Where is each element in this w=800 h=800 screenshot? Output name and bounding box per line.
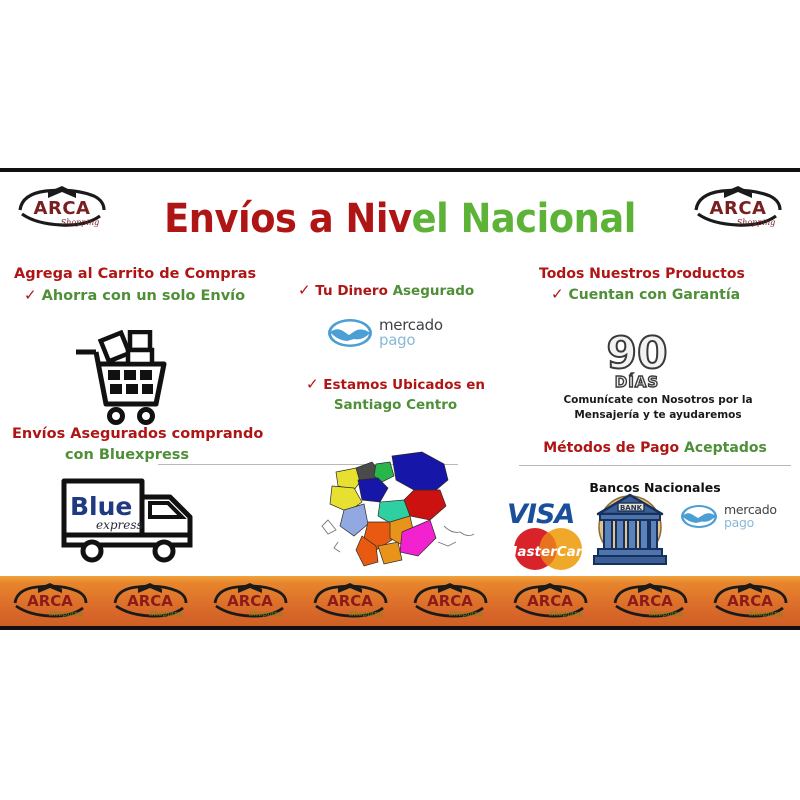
strip-arca-tagline: Shopping [49,610,83,618]
title-part-red: Envíos a Niv [164,196,411,242]
strip-arca-logo: ARCAShopping [111,581,189,621]
banner-top-border [0,168,800,172]
strip-arca-tagline: Shopping [349,610,383,618]
shipping-heading: Envíos Asegurados comprando con Bluexpre… [12,424,242,466]
promo-banner: ARCA Shopping ARCA Shopping Envíos a Niv… [0,168,800,630]
bluexpress-truck-icon: Blue express [58,473,238,563]
warranty-90-days-badge: 90 DÍAS [591,328,683,392]
payment-divider-line [519,465,791,466]
strip-arca-wordmark: ARCA [127,592,173,610]
payment-heading-red: Métodos de Pago [543,440,679,456]
strip-arca-wordmark: ARCA [427,592,473,610]
strip-arca-wordmark: ARCA [327,592,373,610]
location-heading: ✓ Estamos Ubicados en Santiago Centro [298,374,493,415]
strip-arca-logo: ARCAShopping [511,581,589,621]
truck-word1: Blue [70,492,132,521]
strip-arca-wordmark: ARCA [27,592,73,610]
strip-arca-tagline: Shopping [649,610,683,618]
warranty-heading-line1: Todos Nuestros Productos [539,264,745,284]
cart-heading: Agrega al Carrito de Compras ✓ Ahorra co… [14,264,256,307]
truck-word2: express [96,518,143,532]
strip-arca-logo: ARCAShopping [211,581,289,621]
bank-label: BANK [620,504,643,512]
mercado-pago-logo-bottom: mercado pago [680,504,777,529]
bottom-brand-strip: ARCAShoppingARCAShoppingARCAShoppingARCA… [0,576,800,626]
strip-arca-wordmark: ARCA [227,592,273,610]
shopping-cart-icon [72,330,172,425]
strip-arca-wordmark: ARCA [727,592,773,610]
badge-number: 90 [606,328,667,379]
strip-arca-logo: ARCAShopping [311,581,389,621]
warranty-note: Comunícate con Nosotros por la Mensajerí… [533,393,783,423]
location-heading-line1: Estamos Ubicados en [323,377,485,393]
money-heading: ✓ Tu Dinero Asegurado [298,280,474,302]
warranty-check-icon: ✓ [551,285,564,303]
mercado-pago-word2: pago [379,333,443,348]
strip-arca-tagline: Shopping [449,610,483,618]
strip-arca-tagline: Shopping [549,610,583,618]
santiago-region-map [318,446,478,571]
strip-arca-wordmark: ARCA [627,592,673,610]
visa-logo: VISA [505,498,593,528]
payment-mp-word2: pago [724,517,777,530]
strip-arca-tagline: Shopping [749,610,783,618]
warranty-heading-line2: Cuentan con Garantía [568,287,740,303]
bank-building-icon: BANK [590,490,670,568]
strip-arca-logo: ARCAShopping [711,581,789,621]
strip-arca-logo: ARCAShopping [611,581,689,621]
strip-arca-tagline: Shopping [249,610,283,618]
strip-arca-logo: ARCAShopping [411,581,489,621]
strip-arca-tagline: Shopping [149,610,183,618]
payment-heading-green: Aceptados [684,440,767,456]
shipping-heading-line1: Envíos Asegurados comprando [12,424,242,445]
badge-unit: DÍAS [615,372,659,391]
warranty-heading: Todos Nuestros Productos ✓ Cuentan con G… [539,264,745,306]
mastercard-wordmark: MasterCard [504,544,593,560]
banner-bottom-border [0,626,800,630]
location-check-icon: ✓ [306,375,319,393]
warranty-note-line2: Mensajería y te ayudaremos [533,408,783,423]
visa-wordmark: VISA [507,499,574,528]
mastercard-logo: MasterCard [502,526,594,572]
warranty-note-line1: Comunícate con Nosotros por la [533,393,783,408]
mercado-pago-logo-middle: mercado pago [327,318,443,348]
location-heading-line2: Santiago Centro [298,396,493,416]
money-check-icon: ✓ [298,281,311,299]
money-heading-green: Asegurado [393,283,475,299]
mercado-pago-handshake-icon-bottom [680,504,718,529]
banner-title: Envíos a Nivel Nacional [32,196,768,242]
strip-arca-wordmark: ARCA [527,592,573,610]
shipping-heading-line2: con Bluexpress [12,445,242,466]
strip-arca-logo: ARCAShopping [11,581,89,621]
mercado-pago-handshake-icon [327,318,373,348]
money-heading-red: Tu Dinero [315,283,388,299]
cart-heading-line1: Agrega al Carrito de Compras [14,264,256,285]
title-part-green: el Nacional [412,196,636,242]
cart-heading-line2: Ahorra con un solo Envío [42,288,245,304]
cart-check-icon: ✓ [24,286,37,304]
payment-heading: Métodos de Pago Aceptados [530,438,780,458]
